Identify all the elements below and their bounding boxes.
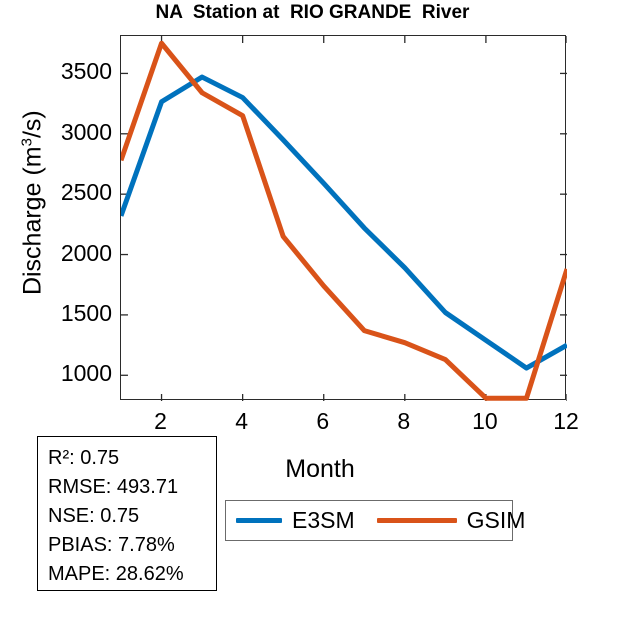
stat-pbias: PBIAS: 7.78% [48, 531, 216, 560]
legend-label-gsim: GSIM [467, 509, 526, 532]
legend-swatch-e3sm [236, 518, 282, 523]
x-tick-label: 2 [141, 410, 181, 433]
y-tick-label: 3000 [40, 121, 112, 144]
x-axis-title: Month [230, 455, 410, 484]
legend-item-gsim[interactable]: GSIM [377, 509, 526, 532]
series-line-e3sm [121, 77, 567, 368]
legend-item-e3sm[interactable]: E3SM [236, 509, 355, 532]
x-tick-label: 8 [384, 410, 424, 433]
x-tick-label: 4 [222, 410, 262, 433]
figure-container: NA Station at RIO GRANDE River 100015002… [0, 0, 625, 625]
y-axis-title: Discharge (m3/s) [18, 38, 47, 368]
y-axis-title-tail: /s) [19, 110, 47, 138]
legend-label-e3sm: E3SM [292, 509, 355, 532]
data-series-group [121, 43, 567, 398]
y-tick-label: 3500 [40, 60, 112, 83]
axis-ticks [121, 36, 567, 401]
series-line-gsim [121, 43, 567, 398]
chart-legend[interactable]: E3SM GSIM [225, 500, 513, 541]
y-axis-title-text: Discharge (m [19, 146, 47, 295]
x-tick-label: 10 [465, 410, 505, 433]
y-tick-label: 1500 [40, 302, 112, 325]
y-tick-label: 1000 [40, 362, 112, 385]
plot-svg [121, 36, 567, 401]
stat-mape: MAPE: 28.62% [48, 560, 216, 589]
stat-rmse: RMSE: 493.71 [48, 473, 216, 502]
stat-r2: R²: 0.75 [48, 444, 216, 473]
statistics-box: R²: 0.75 RMSE: 493.71 NSE: 0.75 PBIAS: 7… [37, 436, 217, 591]
y-tick-label: 2500 [40, 181, 112, 204]
stat-nse: NSE: 0.75 [48, 502, 216, 531]
plot-area [120, 35, 566, 400]
y-tick-label: 2000 [40, 242, 112, 265]
chart-title: NA Station at RIO GRANDE River [0, 2, 625, 24]
x-tick-label: 6 [303, 410, 343, 433]
stat-r2-text: R²: 0.75 [48, 447, 119, 469]
y-axis-title-exponent: 3 [18, 138, 35, 146]
x-tick-label: 12 [546, 410, 586, 433]
legend-swatch-gsim [377, 518, 457, 523]
